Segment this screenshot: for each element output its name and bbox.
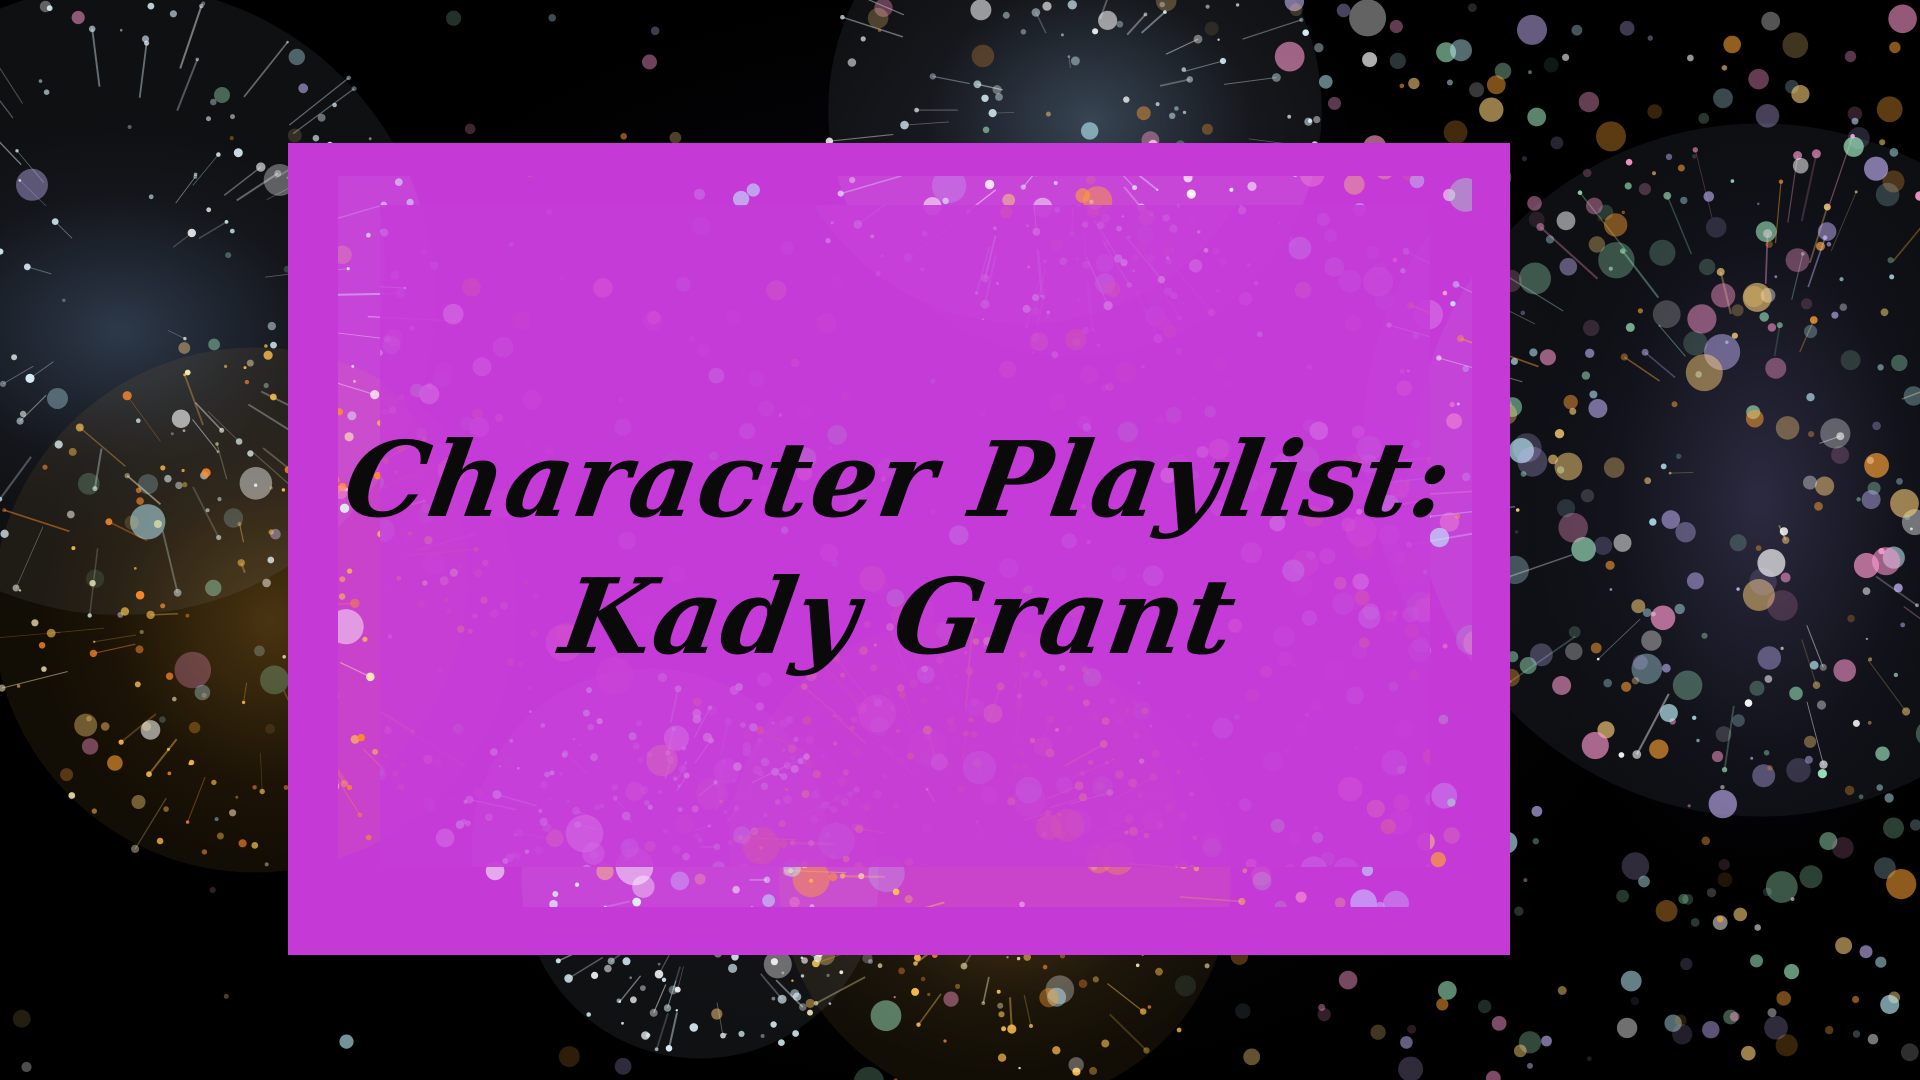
frame-inner-panel (380, 205, 1430, 867)
panel-magenta-tint (380, 205, 1430, 867)
title-card: Character Playlist: Kady Grant (0, 0, 1920, 1080)
decorative-frame: Character Playlist: Kady Grant (288, 143, 1510, 955)
